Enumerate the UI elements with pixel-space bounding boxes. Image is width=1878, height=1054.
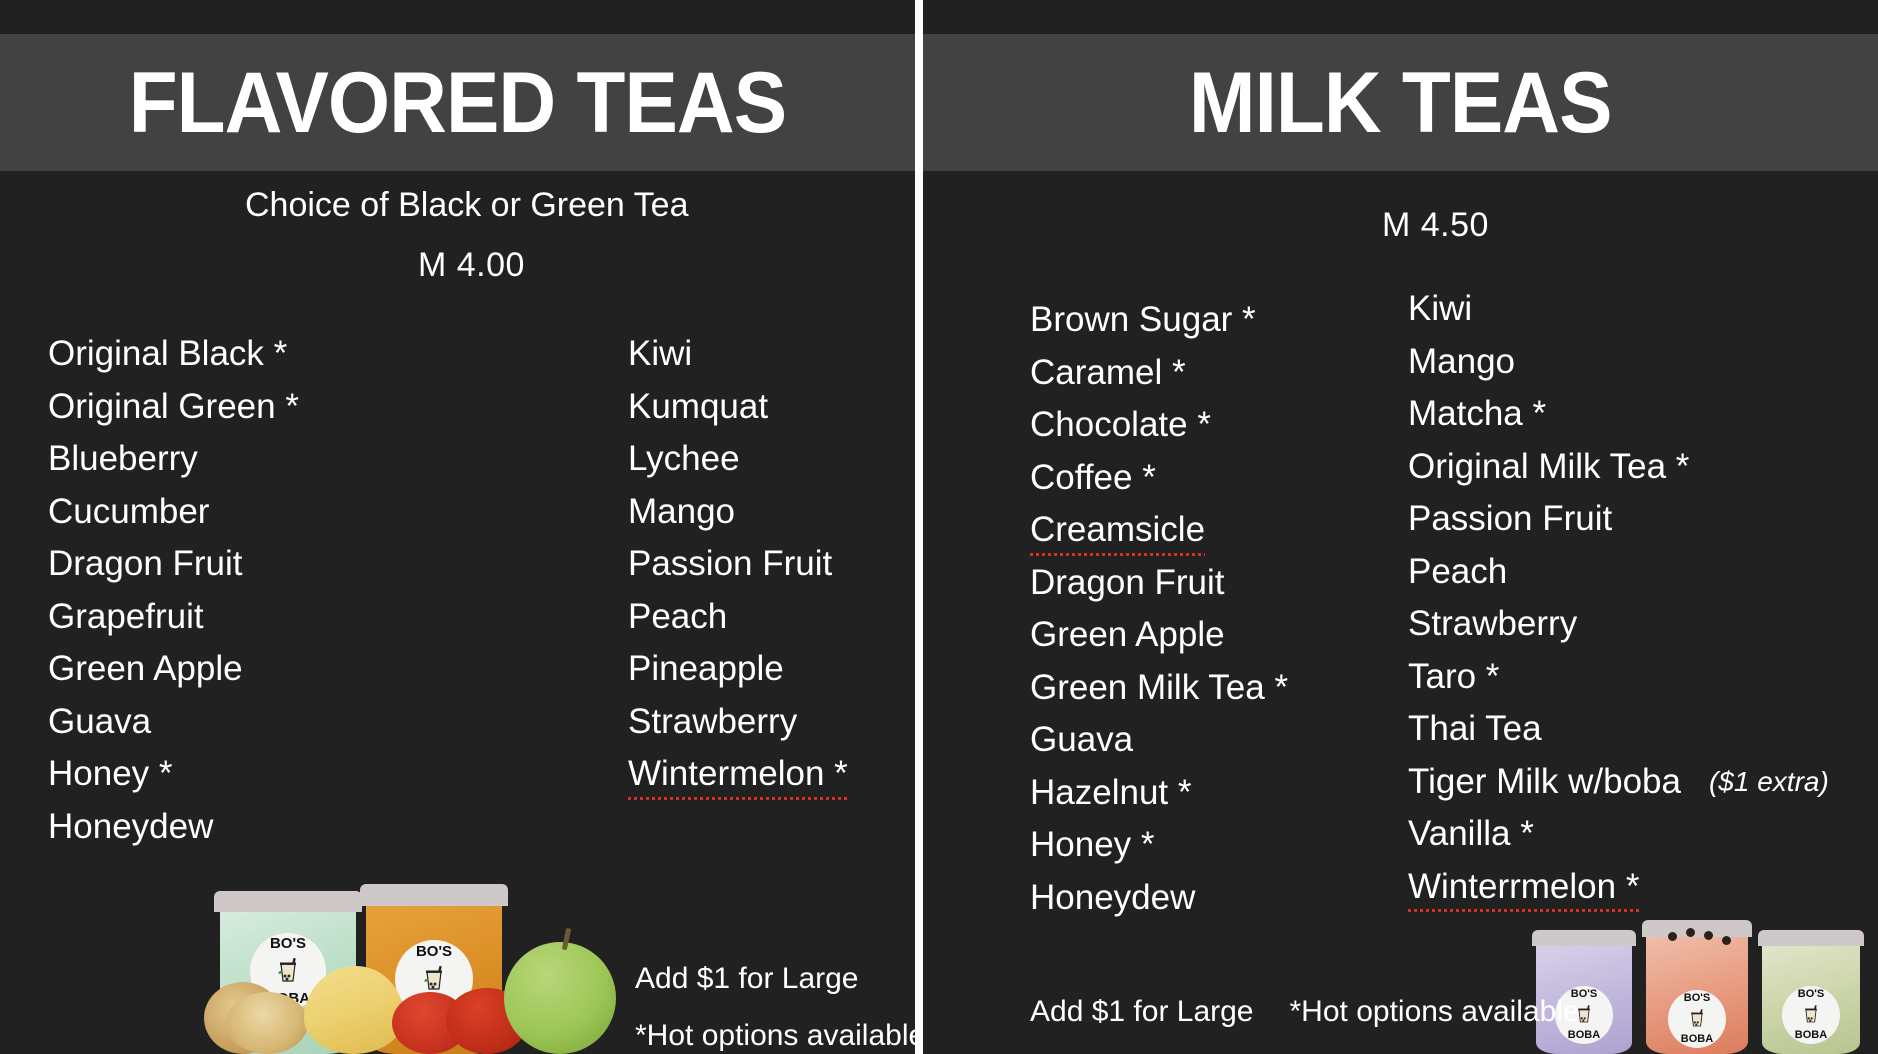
menu-item[interactable]: Guava bbox=[48, 696, 299, 749]
flavored-teas-title: FLAVORED TEAS bbox=[129, 60, 786, 146]
menu-item[interactable]: Pineapple bbox=[628, 643, 848, 696]
flavored-teas-choice-note: Choice of Black or Green Tea bbox=[245, 188, 689, 222]
menu-item[interactable]: Original Milk Tea * bbox=[1408, 441, 1829, 494]
menu-item[interactable]: Blueberry bbox=[48, 433, 299, 486]
menu-item[interactable]: Wintermelon * bbox=[628, 748, 848, 801]
boba-cup-icon bbox=[1689, 1009, 1705, 1030]
strawberry-milk-tea-cup-image: BO'S BOBA bbox=[1642, 920, 1752, 1054]
flavored-teas-product-photo: BO'S BOBA bbox=[196, 858, 636, 1054]
menu-item[interactable]: Dragon Fruit bbox=[1030, 557, 1288, 610]
menu-item[interactable]: Honey * bbox=[1030, 819, 1288, 872]
flavored-teas-footnotes: Add $1 for Large *Hot options available bbox=[635, 950, 915, 1054]
add-for-large-note: Add $1 for Large bbox=[1030, 995, 1254, 1028]
green-apple-fruit-image bbox=[504, 942, 616, 1054]
boba-cup-icon bbox=[423, 966, 445, 993]
panel-divider bbox=[915, 0, 923, 1054]
brand-line-2: BOBA bbox=[1681, 1034, 1713, 1045]
menu-item[interactable]: Original Green * bbox=[48, 381, 299, 434]
flavored-teas-price: M 4.00 bbox=[418, 248, 525, 282]
menu-item[interactable]: Original Black * bbox=[48, 328, 299, 381]
brand-line-1: BO'S bbox=[1798, 989, 1824, 1000]
milk-teas-column-1: Brown Sugar * Caramel * Chocolate * Coff… bbox=[1030, 294, 1288, 924]
milk-teas-product-photo: BO'S BOBA bbox=[1512, 906, 1878, 1054]
taro-milk-tea-cup-image: BO'S BOBA bbox=[1532, 930, 1636, 1054]
menu-board: FLAVORED TEAS Choice of Black or Green T… bbox=[0, 0, 1878, 1054]
brand-line-1: BO'S bbox=[270, 936, 306, 951]
menu-item[interactable]: Mango bbox=[628, 486, 848, 539]
menu-item[interactable]: Coffee * bbox=[1030, 452, 1288, 505]
menu-item[interactable]: Honeydew bbox=[48, 801, 299, 854]
menu-item[interactable]: Cucumber bbox=[48, 486, 299, 539]
menu-item[interactable]: Caramel * bbox=[1030, 347, 1288, 400]
menu-item[interactable]: Kiwi bbox=[628, 328, 848, 381]
menu-item[interactable]: Strawberry bbox=[628, 696, 848, 749]
menu-item[interactable]: Kiwi bbox=[1408, 283, 1829, 336]
milk-teas-title: MILK TEAS bbox=[1189, 60, 1612, 146]
menu-item[interactable]: Chocolate * bbox=[1030, 399, 1288, 452]
menu-item[interactable]: Peach bbox=[628, 591, 848, 644]
milk-teas-price: M 4.50 bbox=[1382, 208, 1489, 242]
milk-teas-column-2: Kiwi Mango Matcha * Original Milk Tea * … bbox=[1408, 283, 1829, 913]
flavored-teas-column-2: Kiwi Kumquat Lychee Mango Passion Fruit … bbox=[628, 328, 848, 801]
menu-item[interactable]: Hazelnut * bbox=[1030, 767, 1288, 820]
menu-item[interactable]: Passion Fruit bbox=[1408, 493, 1829, 546]
menu-item[interactable]: Lychee bbox=[628, 433, 848, 486]
menu-item[interactable]: Thai Tea bbox=[1408, 703, 1829, 756]
milk-teas-footnotes: Add $1 for Large*Hot options available bbox=[1030, 995, 1580, 1029]
menu-item[interactable]: Green Apple bbox=[1030, 609, 1288, 662]
menu-item[interactable]: Strawberry bbox=[1408, 598, 1829, 651]
hot-options-note: *Hot options available bbox=[635, 1007, 915, 1054]
brand-line-1: BO'S bbox=[416, 944, 452, 959]
menu-item[interactable]: Honey * bbox=[48, 748, 299, 801]
menu-item[interactable]: Green Apple bbox=[48, 643, 299, 696]
menu-item[interactable]: Mango bbox=[1408, 336, 1829, 389]
menu-item[interactable]: Passion Fruit bbox=[628, 538, 848, 591]
matcha-milk-tea-cup-image: BO'S BOBA bbox=[1758, 930, 1864, 1054]
menu-item[interactable]: Peach bbox=[1408, 546, 1829, 599]
add-for-large-note: Add $1 for Large bbox=[635, 950, 915, 1007]
menu-item[interactable]: Guava bbox=[1030, 714, 1288, 767]
menu-item[interactable]: Taro * bbox=[1408, 651, 1829, 704]
menu-item[interactable]: Matcha * bbox=[1408, 388, 1829, 441]
menu-item[interactable]: Green Milk Tea * bbox=[1030, 662, 1288, 715]
hot-options-note: *Hot options available bbox=[1290, 995, 1580, 1028]
menu-item[interactable]: Vanilla * bbox=[1408, 808, 1829, 861]
menu-item[interactable]: Creamsicle bbox=[1030, 504, 1288, 557]
boba-cup-icon bbox=[277, 958, 299, 985]
menu-item[interactable]: Brown Sugar * bbox=[1030, 294, 1288, 347]
menu-item[interactable]: Dragon Fruit bbox=[48, 538, 299, 591]
brand-line-2: BOBA bbox=[1568, 1030, 1600, 1041]
flavored-teas-header-band: FLAVORED TEAS bbox=[0, 34, 915, 171]
menu-item-extra-price: ($1 extra) bbox=[1709, 766, 1829, 797]
panel-flavored-teas: FLAVORED TEAS Choice of Black or Green T… bbox=[0, 0, 915, 1054]
brand-line-1: BO'S bbox=[1684, 993, 1710, 1004]
menu-item[interactable]: Grapefruit bbox=[48, 591, 299, 644]
kiwi-fruit-image bbox=[226, 992, 308, 1054]
milk-teas-header-band: MILK TEAS bbox=[923, 34, 1878, 171]
menu-item[interactable]: Tiger Milk w/boba($1 extra) bbox=[1408, 756, 1829, 809]
flavored-teas-column-1: Original Black * Original Green * Bluebe… bbox=[48, 328, 299, 853]
boba-cup-icon bbox=[1803, 1005, 1819, 1026]
brand-line-2: BOBA bbox=[1795, 1030, 1827, 1041]
menu-item[interactable]: Kumquat bbox=[628, 381, 848, 434]
menu-item[interactable]: Honeydew bbox=[1030, 872, 1288, 925]
